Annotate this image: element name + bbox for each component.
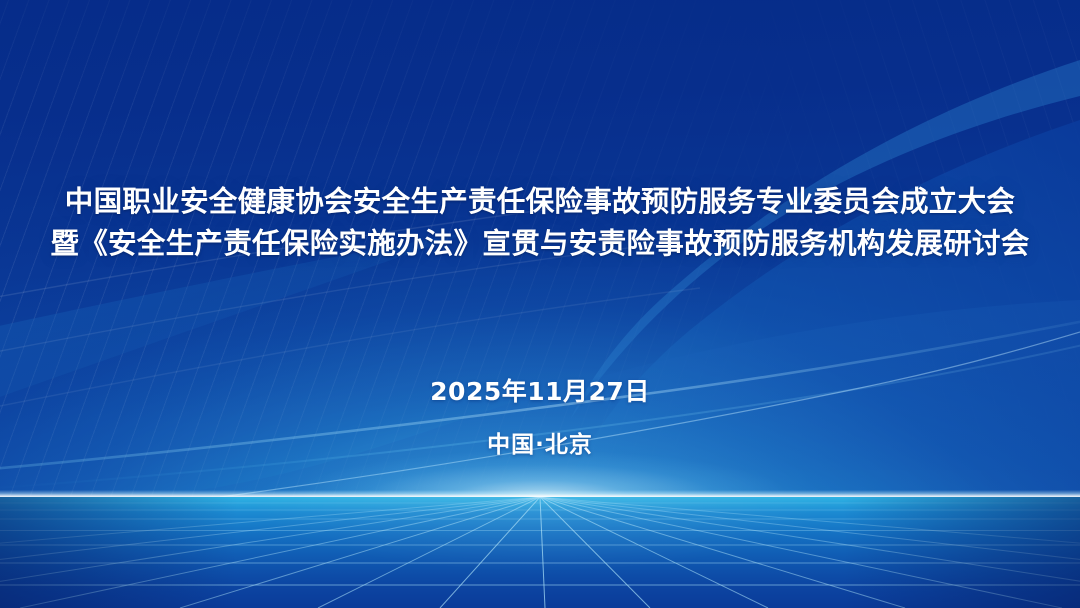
event-title: 中国职业安全健康协会安全生产责任保险事故预防服务专业委员会成立大会 暨《安全生产…: [0, 181, 1080, 265]
event-meta: 2025年11月27日 中国·北京: [0, 375, 1080, 461]
event-location: 中国·北京: [0, 429, 1080, 461]
event-banner: 中国职业安全健康协会安全生产责任保险事故预防服务专业委员会成立大会 暨《安全生产…: [0, 0, 1080, 608]
event-title-line-1: 中国职业安全健康协会安全生产责任保险事故预防服务专业委员会成立大会: [0, 181, 1080, 223]
banner-content: 中国职业安全健康协会安全生产责任保险事故预防服务专业委员会成立大会 暨《安全生产…: [0, 0, 1080, 608]
event-title-line-2: 暨《安全生产责任保险实施办法》宣贯与安责险事故预防服务机构发展研讨会: [0, 223, 1080, 265]
event-date: 2025年11月27日: [0, 375, 1080, 409]
